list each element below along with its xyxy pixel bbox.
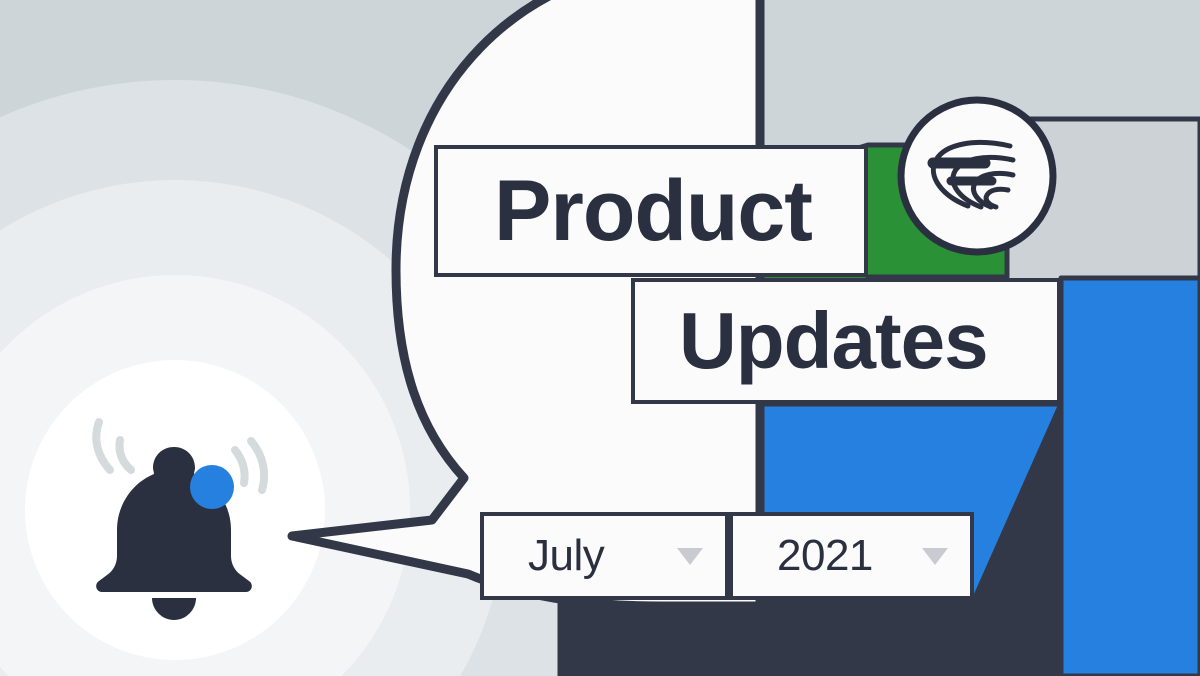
unread-dot-badge: [190, 465, 234, 509]
product-title-card: Product: [434, 145, 868, 277]
brand-logo-badge: [901, 100, 1053, 252]
page-title-line-2: Updates: [679, 301, 988, 381]
chevron-down-icon: [922, 548, 948, 565]
logo-circle: [901, 100, 1053, 252]
month-dropdown-value: July: [528, 534, 604, 578]
year-dropdown[interactable]: 2021: [729, 512, 974, 600]
month-dropdown[interactable]: July: [480, 512, 729, 600]
year-dropdown-value: 2021: [777, 534, 873, 578]
blue-diagonal-band: [1061, 278, 1200, 676]
chevron-down-icon: [677, 548, 703, 565]
page-title-line-1: Product: [494, 168, 812, 254]
updates-title-card: Updates: [631, 278, 1061, 404]
